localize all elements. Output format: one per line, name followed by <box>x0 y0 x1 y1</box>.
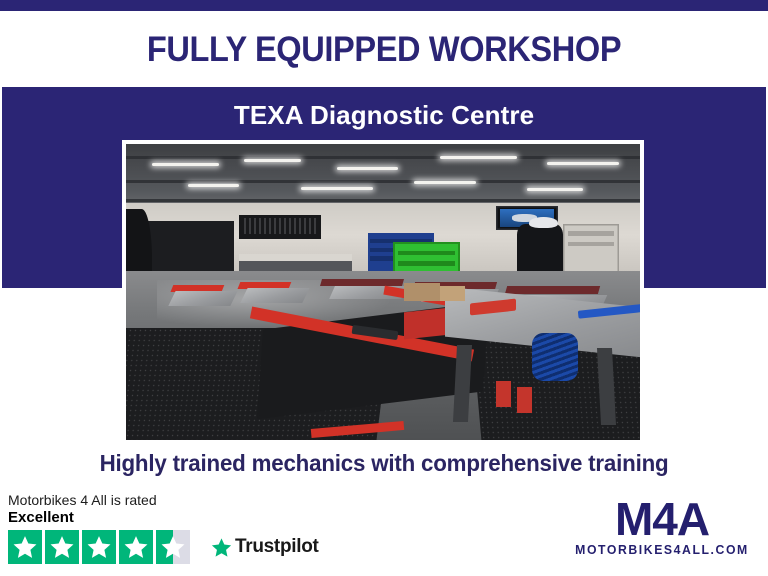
trustpilot-widget[interactable]: Motorbikes 4 All is rated Excellent <box>8 492 338 564</box>
photo-jack-stand <box>517 387 532 414</box>
photo-ceiling-beam <box>126 180 640 183</box>
trustpilot-score-word: Excellent <box>8 509 338 527</box>
title-band: FULLY EQUIPPED WORKSHOP <box>0 11 768 87</box>
photo-ceiling-light <box>301 187 373 190</box>
photo-ceiling-light <box>244 159 301 162</box>
brand-logo-domain: MOTORBIKES4ALL.COM <box>574 543 750 557</box>
promo-poster: FULLY EQUIPPED WORKSHOP TEXA Diagnostic … <box>0 0 768 576</box>
photo-ramp-plate <box>169 291 238 306</box>
trustpilot-logo-text: Trustpilot <box>235 536 319 558</box>
photo-cardboard-box <box>404 283 440 301</box>
photo-ceiling-beam <box>126 199 640 202</box>
photo-ramp-plate <box>241 288 310 303</box>
trustpilot-stars <box>8 530 193 564</box>
photo-right-cabinet-shelf <box>568 242 614 247</box>
title-band-left-margin <box>0 11 4 87</box>
photo-lift-bed <box>505 286 600 294</box>
star-icon <box>82 530 116 564</box>
page-subtitle: TEXA Diagnostic Centre <box>2 102 766 128</box>
star-icon <box>8 530 42 564</box>
workshop-photo-frame <box>122 140 644 444</box>
brand-logo[interactable]: M4A MOTORBIKES4ALL.COM <box>572 498 752 557</box>
footer-caption: Highly trained mechanics with comprehens… <box>12 452 757 475</box>
trustpilot-logo[interactable]: Trustpilot <box>211 536 319 558</box>
trustpilot-star-icon <box>211 537 232 558</box>
photo-cabinet-drawer <box>398 251 455 256</box>
star-icon <box>45 530 79 564</box>
photo-ceiling-light <box>440 156 517 159</box>
photo-cabinet-drawer <box>398 261 455 266</box>
workshop-photo <box>126 144 640 440</box>
photo-ceiling-light <box>547 162 619 165</box>
trustpilot-rated-label: Motorbikes 4 All is rated <box>8 492 338 508</box>
photo-ceiling-light <box>337 167 399 170</box>
title-band-right-margin <box>764 11 768 87</box>
brand-logo-mark: M4A <box>572 498 752 542</box>
page-title: FULLY EQUIPPED WORKSHOP <box>147 32 621 67</box>
photo-jack-stand <box>496 381 511 408</box>
photo-back-bench <box>239 254 352 261</box>
photo-ceiling-light <box>527 188 584 191</box>
star-half-icon <box>156 530 190 564</box>
photo-helmet <box>529 217 557 229</box>
photo-cardboard-box <box>440 286 466 301</box>
photo-air-hose <box>532 333 578 380</box>
photo-right-cabinet-shelf <box>568 231 614 236</box>
top-accent-bar <box>0 0 768 11</box>
photo-ceiling-light <box>414 181 476 184</box>
trustpilot-rating-row: Trustpilot <box>8 530 338 564</box>
star-icon <box>119 530 153 564</box>
photo-lift-bed <box>320 279 404 286</box>
photo-tool-board-tools <box>244 218 316 234</box>
photo-ceiling-light <box>152 163 219 166</box>
photo-ceiling-beam <box>126 156 640 159</box>
photo-ceiling-light <box>188 184 239 187</box>
